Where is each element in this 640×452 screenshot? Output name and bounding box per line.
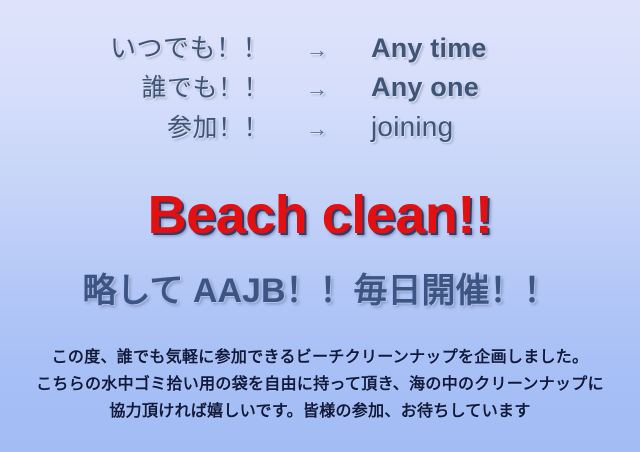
tagline-mapping-block: いつでも！！ → Any time 誰でも！！ → Any one 参加！！ →… xyxy=(0,28,640,148)
tagline-row: いつでも！！ → Any time xyxy=(0,28,640,68)
sub-headline: 略して AAJB！！毎日開催！！ xyxy=(0,274,640,310)
body-paragraph: この度、誰でも気軽に参加できるビーチクリーンナップを企画しました。 こちらの水中… xyxy=(0,344,640,425)
body-line: この度、誰でも気軽に参加できるビーチクリーンナップを企画しました。 xyxy=(0,344,640,371)
tagline-row: 参加！！ → joining xyxy=(0,108,640,148)
tagline-japanese-anytime: いつでも！！ xyxy=(45,28,269,65)
tagline-english-joining: joining xyxy=(365,111,595,143)
main-headline: Beach clean!! xyxy=(0,188,640,242)
arrow-right-icon: → xyxy=(269,76,365,102)
poster-canvas: いつでも！！ → Any time 誰でも！！ → Any one 参加！！ →… xyxy=(0,0,640,452)
arrow-right-icon: → xyxy=(269,116,365,142)
tagline-row: 誰でも！！ → Any one xyxy=(0,68,640,108)
body-line: 協力頂ければ嬉しいです。皆様の参加、お待ちしています xyxy=(0,398,640,425)
tagline-english-anytime: Any time xyxy=(365,33,595,64)
tagline-japanese-joining: 参加！！ xyxy=(45,108,269,144)
arrow-right-icon: → xyxy=(269,37,365,63)
body-line: こちらの水中ゴミ拾い用の袋を自由に持って頂き、海の中のクリーンナップに xyxy=(0,371,640,398)
tagline-japanese-anyone: 誰でも！！ xyxy=(45,68,269,104)
tagline-english-anyone: Any one xyxy=(365,72,595,103)
